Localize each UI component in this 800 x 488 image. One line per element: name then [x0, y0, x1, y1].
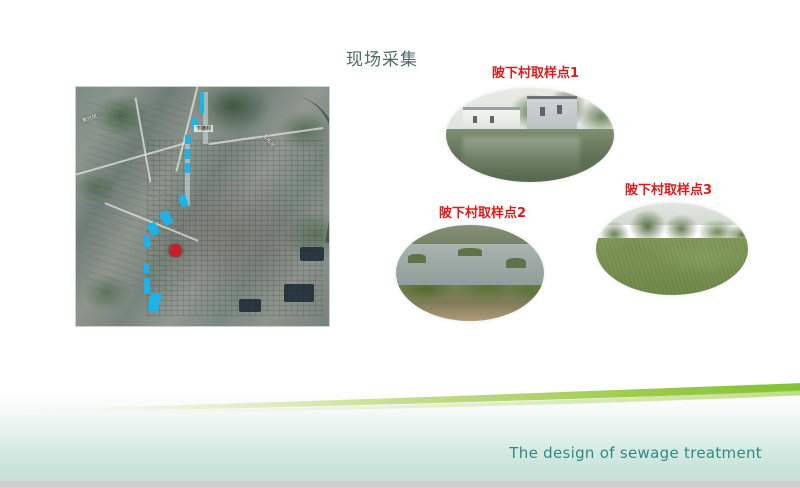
map-sampling-marker[interactable] [169, 244, 182, 257]
field-texture [596, 238, 748, 295]
water-reflection [463, 137, 581, 176]
weed-patch [506, 258, 526, 268]
photo-caption-3: 陂下村取样点3 [625, 179, 712, 198]
window [490, 116, 494, 123]
footer-swoosh [0, 380, 800, 414]
map-route-segment [144, 264, 149, 274]
map-pond [284, 284, 314, 302]
map-route-segment [144, 235, 150, 247]
grass-bank [396, 285, 544, 321]
map-imagery: 黄竹坑 下陂村 富水河 [76, 87, 329, 326]
window [557, 105, 562, 114]
map-pond [300, 247, 324, 261]
photo-3-content [596, 203, 748, 295]
map-route-segment [185, 149, 190, 159]
weed-patch [408, 254, 426, 263]
map-river [236, 89, 330, 242]
presentation-slide: 现场采集 [0, 0, 800, 488]
map-label: 下陂村 [194, 125, 213, 132]
page-title: 现场采集 [346, 45, 418, 70]
footer-base-strip [0, 481, 800, 488]
window [473, 116, 477, 123]
map-route-segment [144, 278, 150, 292]
swoosh-shape [0, 380, 800, 414]
satellite-map[interactable]: 黄竹坑 下陂村 富水河 [75, 86, 330, 327]
sample-photo-1[interactable] [446, 88, 614, 182]
map-route-segment [185, 135, 191, 145]
window [540, 107, 545, 116]
sample-photo-2[interactable] [396, 225, 544, 321]
photo-caption-2: 陂下村取样点2 [439, 202, 526, 221]
footer-title: The design of sewage treatment [509, 444, 762, 462]
photo-2-content [396, 225, 544, 321]
map-route-segment [185, 163, 190, 173]
field-region [596, 238, 748, 295]
photo-caption-1: 陂下村取样点1 [492, 62, 579, 81]
map-field-texture [86, 101, 187, 292]
photo-1-content [446, 88, 614, 182]
map-pond [239, 299, 261, 312]
weed-patch [458, 248, 482, 256]
sample-photo-3[interactable] [596, 203, 748, 295]
map-route-segment [200, 92, 204, 114]
